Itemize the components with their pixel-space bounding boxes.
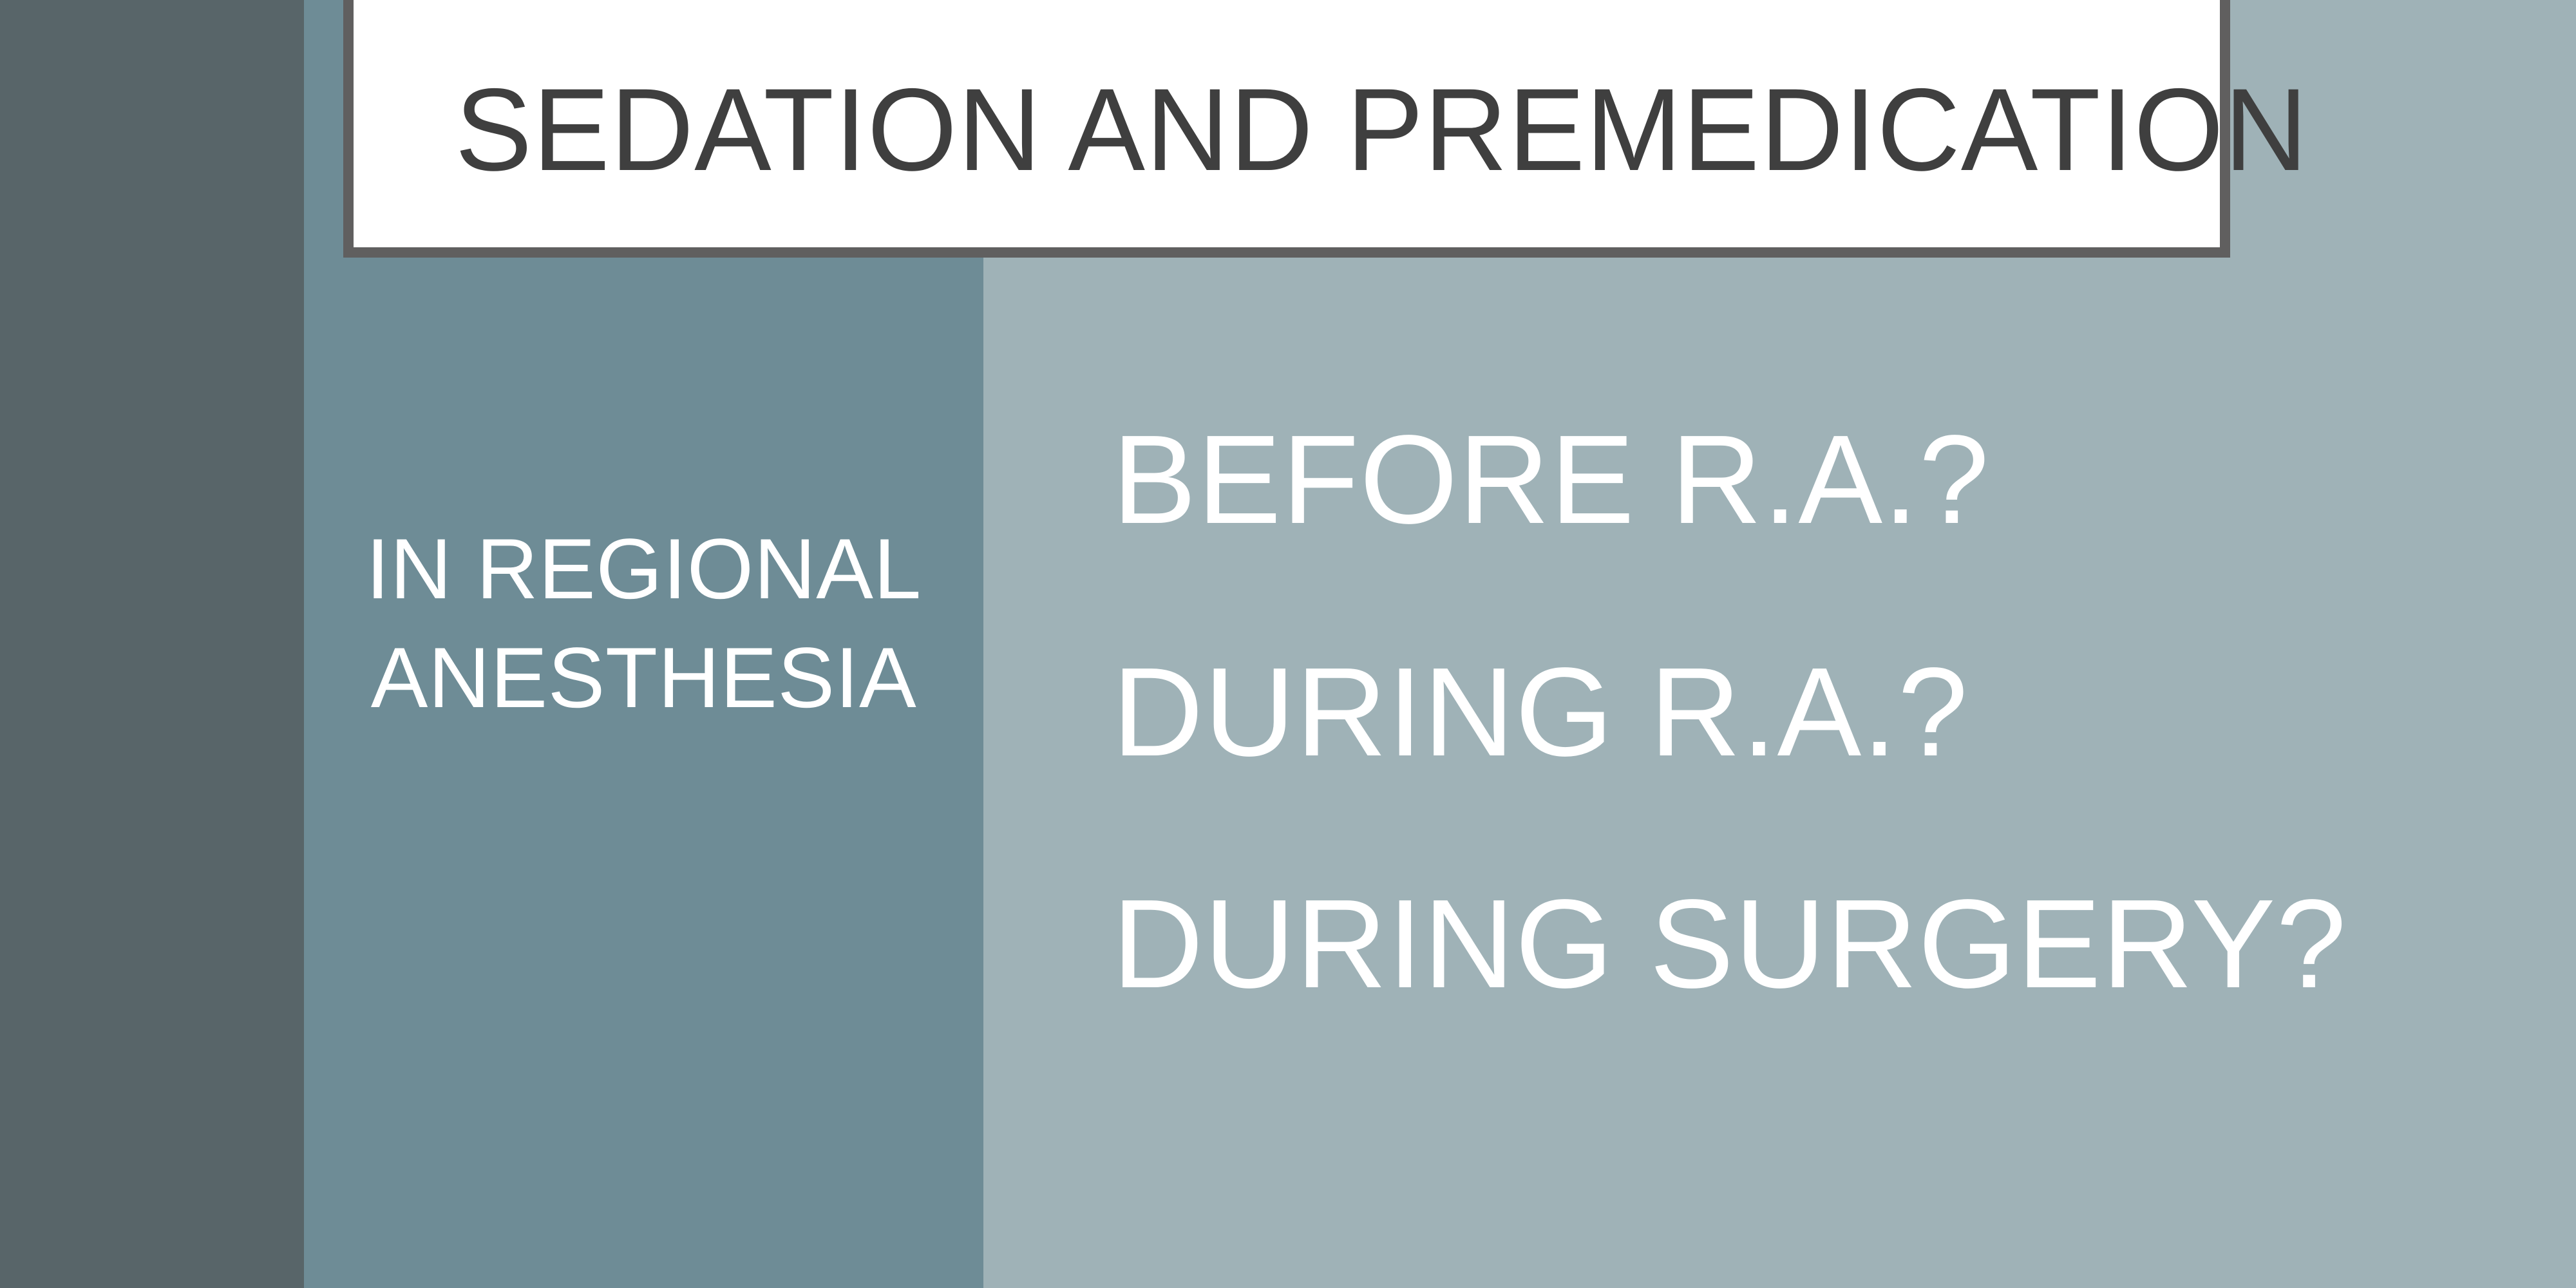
body-line-during-surgery: DURING SURGERY? — [1112, 828, 2529, 1061]
subtitle-block: IN REGIONAL ANESTHESIA — [304, 515, 983, 733]
body-line-before-ra: BEFORE R.A.? — [1112, 364, 2529, 596]
body-line-during-ra: DURING R.A.? — [1112, 596, 2529, 829]
slide-title: SEDATION AND PREMEDICATION — [354, 71, 2308, 247]
subtitle-line-1: IN REGIONAL — [304, 515, 983, 624]
presentation-slide: SEDATION AND PREMEDICATION IN REGIONAL A… — [0, 0, 2576, 1288]
left-dark-band — [0, 0, 304, 1288]
body-question-list: BEFORE R.A.? DURING R.A.? DURING SURGERY… — [1112, 364, 2529, 1061]
subtitle-line-2: ANESTHESIA — [304, 624, 983, 733]
title-plaque: SEDATION AND PREMEDICATION — [343, 0, 2230, 258]
